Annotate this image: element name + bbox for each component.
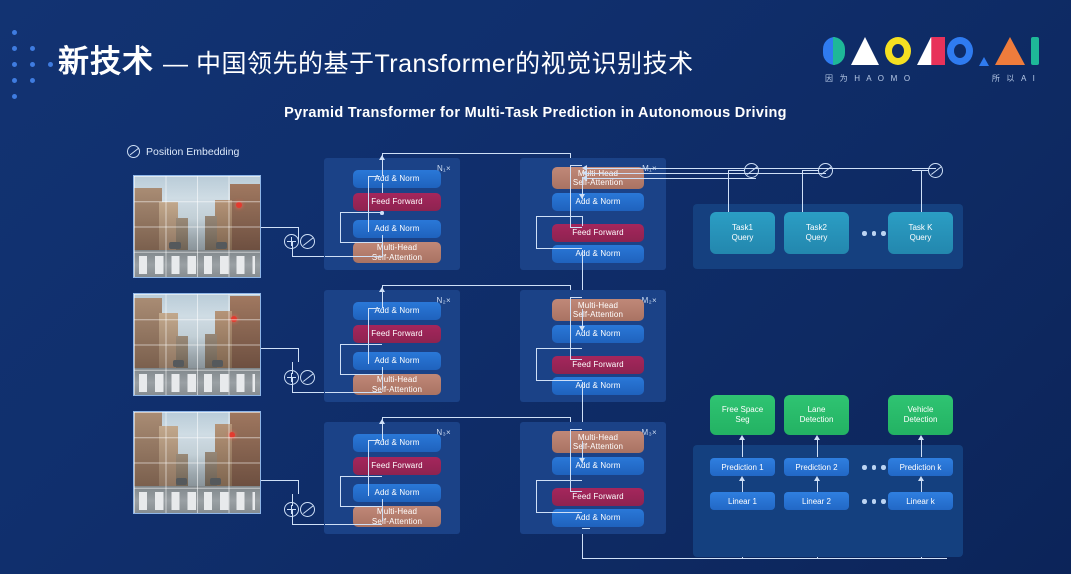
dec1-res-h3 [536, 248, 582, 249]
pred2-arrow [814, 476, 820, 481]
linear-ellipsis [862, 499, 886, 504]
page-title: 新技术 — 中国领先的基于Transformer的视觉识别技术 [58, 36, 694, 81]
enc1-res-h-2 [340, 242, 382, 243]
dec1-v-out [582, 250, 583, 272]
encoder-panel-2: N₂× Add & Norm Feed Forward Add & Norm M… [324, 290, 460, 402]
prediction-ellipsis [862, 465, 886, 470]
decoder2-mha-line2: Self-Attention [573, 310, 623, 319]
dec2-res-h3 [536, 380, 582, 381]
linear-k[interactable]: Linear k [888, 492, 953, 510]
img3-line-d [292, 524, 324, 525]
tq2-pe-v [802, 170, 803, 212]
enc3-res-v-left [368, 440, 369, 496]
position-embedding-legend: Position Embedding [127, 145, 239, 158]
out2-arrow [814, 435, 820, 440]
logo-o-icon [885, 37, 911, 65]
decoder3-feed-forward: Feed Forward [552, 488, 644, 506]
enc1-mid-v [382, 183, 383, 193]
out1-arrow [739, 435, 745, 440]
img3-line-c [292, 494, 293, 506]
task-query-1-line2: Query [732, 233, 754, 243]
enc3-res-h-1 [368, 440, 380, 441]
img1-line-d [292, 241, 293, 257]
prediction-1[interactable]: Prediction 1 [710, 458, 775, 476]
logo-a2-icon [995, 37, 1025, 65]
tqk-pe-v [921, 170, 922, 212]
predk-arrow [918, 476, 924, 481]
dec1-res-h1 [570, 165, 582, 166]
task-query-1[interactable]: Task1 Query [710, 212, 775, 254]
enc2-res-h-1 [368, 308, 380, 309]
enc2-in-v [382, 367, 383, 389]
task-query-1-line1: Task1 [732, 223, 753, 233]
encoder2-add-norm-top: Add & Norm [353, 302, 441, 320]
encoder1-feed-forward: Feed Forward [353, 193, 441, 211]
encoder1-multi-head-self-attention: Multi-Head Self-Attention [353, 242, 441, 263]
dec2-res-h2 [570, 359, 582, 360]
logo-caption: 因 为 H A O M O 所 以 A I [823, 73, 1039, 84]
decoder-panel-1: M₁× Multi-Head Self-Attention Add & Norm… [520, 158, 666, 270]
enc1-res-v-left [368, 176, 369, 232]
dec1-res-h2 [570, 227, 582, 228]
enc3-input-h [325, 524, 382, 525]
title-subtitle: — 中国领先的基于Transformer的视觉识别技术 [163, 44, 694, 80]
dec1-q-line-3 [586, 178, 756, 179]
task-query-k-pe-icon [928, 163, 943, 178]
encoder-panel-3: N₃× Add & Norm Feed Forward Add & Norm M… [324, 422, 460, 534]
pred2-to-out2 [817, 437, 818, 457]
enc2-to-dec-h [382, 285, 570, 286]
input-image-3 [133, 411, 261, 514]
prediction-k[interactable]: Prediction k [888, 458, 953, 476]
output-2-line1: Lane [808, 405, 826, 415]
pred1-arrow [739, 476, 745, 481]
encoder3-add-norm-bottom: Add & Norm [353, 484, 441, 502]
predk-to-outk [921, 437, 922, 457]
dec3-res-h2 [570, 491, 582, 492]
dec3-res-h3 [536, 512, 582, 513]
enc1-in-v [382, 235, 383, 257]
task-query-1-pe-icon [744, 163, 759, 178]
img3-line-b [298, 480, 299, 494]
dec3-out-stub [582, 528, 590, 529]
task-query-2-pe-icon [818, 163, 833, 178]
logo-caption-left: 因 为 H A O M O [825, 73, 912, 84]
dec1-res-h4 [536, 216, 582, 217]
logo-caption-right: 所 以 A I [992, 73, 1037, 84]
img3-line-e [292, 509, 293, 525]
enc1-res-h-3 [340, 212, 382, 213]
tq1-pe-h [728, 170, 744, 171]
enc1-arrow-out [379, 155, 385, 160]
decoder1-feed-forward: Feed Forward [552, 224, 644, 242]
dec1-q-line-2 [586, 173, 826, 174]
logo-m2-icon [917, 37, 941, 65]
output-3-line2: Detection [904, 415, 938, 425]
decorative-dot-grid [8, 28, 54, 98]
enc2-arrow-out [379, 287, 385, 292]
decoder3-multi-head-self-attention: Multi-Head Self-Attention [552, 431, 644, 453]
decoder2-add-norm-1: Add & Norm [552, 325, 644, 343]
enc3-res-h-3 [340, 476, 382, 477]
dec3-out-v [582, 534, 583, 558]
prediction-2[interactable]: Prediction 2 [784, 458, 849, 476]
enc1-input-h [325, 256, 382, 257]
position-embedding-label: Position Embedding [146, 146, 239, 158]
img2-line-e [292, 377, 293, 393]
img2-line-a [261, 348, 299, 349]
task-query-2-line1: Task2 [806, 223, 827, 233]
enc2-res-h-3 [340, 344, 382, 345]
dec2-res-v [570, 297, 571, 359]
logo-m-icon [823, 37, 845, 65]
logo-a-icon [851, 37, 879, 65]
decoder2-mha-line1: Multi-Head [578, 301, 618, 310]
enc3-in-v [382, 499, 383, 521]
linear-2[interactable]: Linear 2 [784, 492, 849, 510]
dec3-res-h1 [570, 429, 582, 430]
input-image-2 [133, 293, 261, 396]
img2-line-b [298, 348, 299, 362]
dec3-res-v2 [536, 480, 537, 513]
output-1-line1: Free Space [722, 405, 763, 415]
decoder2-multi-head-self-attention: Multi-Head Self-Attention [552, 299, 644, 321]
encoder1-add-norm-bottom: Add & Norm [353, 220, 441, 238]
position-embedding-operator-1 [300, 234, 315, 249]
logo-dot-icon [979, 57, 989, 66]
input-image-1 [133, 175, 261, 278]
enc3-res-h-2 [340, 506, 382, 507]
dec1-res-v [570, 165, 571, 227]
dec1-v-b [582, 216, 583, 226]
enc2-res-h-2 [340, 374, 382, 375]
decoder1-add-norm-1: Add & Norm [552, 193, 644, 211]
haomo-ai-logo: 因 为 H A O M O 所 以 A I [823, 36, 1039, 84]
decoder2-feed-forward: Feed Forward [552, 356, 644, 374]
position-embedding-operator-3 [300, 502, 315, 517]
output-free-space-seg[interactable]: Free Space Seg [710, 395, 775, 435]
outk-arrow [918, 435, 924, 440]
tq2-pe-h [802, 170, 818, 171]
enc3-to-dec-h [382, 417, 570, 418]
encoder1-mha-line2: Self-Attention [372, 253, 422, 262]
dec2-to-dec3 [582, 402, 583, 422]
logo-o2-icon [947, 37, 973, 65]
dec3-res-v [570, 429, 571, 491]
output-3-line1: Vehicle [908, 405, 934, 415]
dec1-q-arrow-3 [582, 175, 587, 181]
output-bus-h [582, 558, 947, 559]
encoder2-feed-forward: Feed Forward [353, 325, 441, 343]
encoder2-add-norm-bottom: Add & Norm [353, 352, 441, 370]
enc2-res-v-left [368, 308, 369, 364]
tqk-pe-h [912, 170, 928, 171]
pred1-to-out1 [742, 437, 743, 457]
linear-1[interactable]: Linear 1 [710, 492, 775, 510]
architecture-diagram: Position Embedding [0, 130, 1071, 574]
enc1-node-a [380, 211, 384, 215]
decoder1-mha-line2: Self-Attention [573, 178, 623, 187]
figure-caption: Pyramid Transformer for Multi-Task Predi… [0, 105, 1071, 121]
task-query-k-line1: Task K [908, 223, 932, 233]
dec3-arrow-down [579, 458, 585, 463]
enc2-res-v-2 [340, 344, 341, 375]
logo-i-icon [1031, 37, 1039, 65]
output-1-line2: Seg [735, 415, 749, 425]
encoder1-add-norm-top: Add & Norm [353, 170, 441, 188]
decoder-panel-2: M₂× Multi-Head Self-Attention Add & Norm… [520, 290, 666, 402]
img2-line-d [292, 392, 324, 393]
decoder3-mha-line1: Multi-Head [578, 433, 618, 442]
title-main: 新技术 [58, 36, 154, 81]
dec1-arrow-down [579, 194, 585, 199]
logo-marks [823, 36, 1039, 66]
dec2-res-h1 [570, 297, 582, 298]
enc1-res-h-1 [368, 176, 380, 177]
decoder3-add-norm-1: Add & Norm [552, 457, 644, 475]
encoder3-add-norm-top: Add & Norm [353, 434, 441, 452]
decoder3-mha-line2: Self-Attention [573, 442, 623, 451]
enc1-to-dec-h [382, 153, 570, 154]
slide-root: 新技术 — 中国领先的基于Transformer的视觉识别技术 因 为 H A … [0, 0, 1071, 574]
output-vehicle-detection[interactable]: Vehicle Detection [888, 395, 953, 435]
dec3-res-h4 [536, 480, 582, 481]
position-embedding-icon [127, 145, 140, 158]
dec2-v-out [582, 382, 583, 404]
dec2-res-v2 [536, 348, 537, 381]
img2-line-c [292, 362, 293, 374]
enc1-res-v-2 [340, 212, 341, 243]
encoder-panel-1: N₁× Add & Norm Feed Forward Add & Norm M… [324, 158, 460, 270]
output-2-line2: Detection [800, 415, 834, 425]
dec2-arrow-down [579, 326, 585, 331]
enc2-input-h [325, 392, 382, 393]
dec1-to-dec2 [582, 270, 583, 290]
dec1-res-v2 [536, 216, 537, 249]
task-query-k[interactable]: Task K Query [888, 212, 953, 254]
dec2-res-h4 [536, 348, 582, 349]
img1-line-a [261, 227, 299, 228]
enc3-arrow-out [379, 419, 385, 424]
img3-line-a [261, 480, 299, 481]
encoder3-feed-forward: Feed Forward [353, 457, 441, 475]
tq1-pe-v [728, 170, 729, 212]
task-query-k-line2: Query [910, 233, 932, 243]
task-query-2[interactable]: Task2 Query [784, 212, 849, 254]
dec1-q-line-1 [586, 168, 936, 169]
output-lane-detection[interactable]: Lane Detection [784, 395, 849, 435]
enc3-res-v-2 [340, 476, 341, 507]
task-query-ellipsis [862, 231, 886, 236]
decoder-panel-3: M₃× Multi-Head Self-Attention Add & Norm… [520, 422, 666, 534]
task-query-2-line2: Query [806, 233, 828, 243]
position-embedding-operator-2 [300, 370, 315, 385]
